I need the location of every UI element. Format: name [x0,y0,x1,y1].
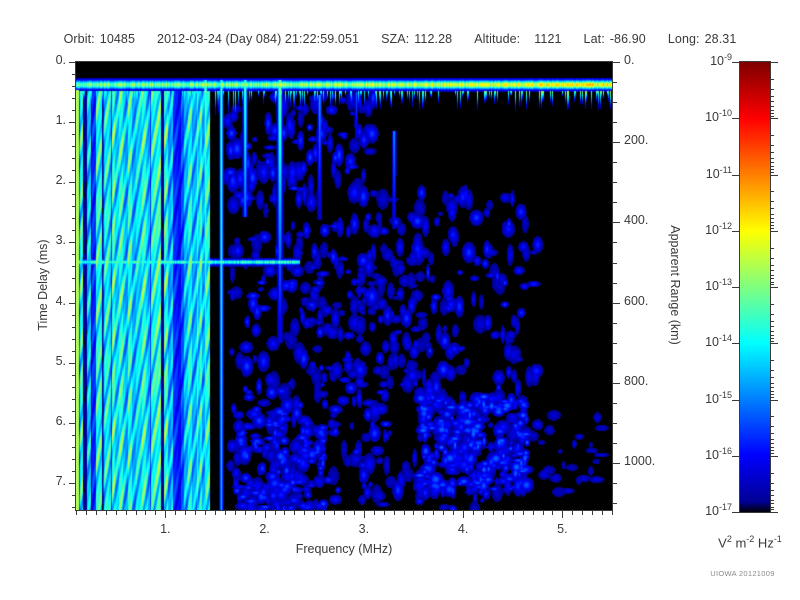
x-minor-tick [96,511,97,515]
y-left-major-tick [69,303,76,304]
colorbar-minor-tick [770,394,774,395]
colorbar-minor-tick [770,116,774,117]
y-right-major-tick [613,463,620,464]
colorbar-minor-tick [770,433,774,434]
x-minor-tick [404,511,405,515]
colorbar-minor-tick [770,106,774,107]
credit-text: UIOWA 20121009 [690,569,795,578]
sza-value: 112.28 [414,32,452,46]
colorbar-minor-tick [770,443,774,444]
y-right-minor-tick [613,403,617,404]
x-minor-tick [572,511,573,515]
x-tick-label: 5. [537,522,587,536]
colorbar-minor-tick [770,166,774,167]
colorbar-minor-tick [770,284,774,285]
x-minor-tick [294,511,295,515]
colorbar-mantissa: 10 [706,167,720,181]
colorbar-minor-tick [770,341,774,342]
x-major-tick [364,511,365,518]
colorbar-major-tick [770,400,778,401]
colorbar-minor-tick [770,152,774,153]
colorbar-border-top [739,61,771,62]
header-info-bar: Orbit: 10485 2012-03-24 (Day 084) 21:22:… [0,30,800,48]
x-axis-title: Frequency (MHz) [264,542,424,556]
plot-border-top [75,61,613,62]
x-minor-tick [453,511,454,515]
x-minor-tick [384,511,385,515]
units-hz-exp: -1 [774,534,782,544]
y-right-minor-tick [613,343,617,344]
sza-label: SZA: [381,32,409,46]
colorbar-minor-tick [770,158,774,159]
colorbar-minor-tick [770,490,774,491]
orbit-label: Orbit: [64,32,95,46]
x-major-tick [562,511,563,518]
x-minor-tick [513,511,514,515]
colorbar-minor-tick [770,326,774,327]
colorbar-minor-tick [770,500,774,501]
colorbar-mantissa: 10 [705,223,719,237]
x-tick-label: 4. [438,522,488,536]
x-minor-tick [215,511,216,515]
y-right-major-tick [613,383,620,384]
x-minor-tick [235,511,236,515]
x-minor-tick [284,511,285,515]
colorbar-minor-tick [770,135,774,136]
x-minor-tick [443,511,444,515]
colorbar-minor-tick [770,387,774,388]
colorbar-minor-tick [770,473,774,474]
colorbar-major-tick [770,118,778,119]
y-right-minor-tick [613,202,617,203]
colorbar-minor-tick [770,331,774,332]
y-left-minor-tick [72,495,76,496]
colorbar-minor-tick [770,450,774,451]
radargram-plot-area [76,62,612,510]
y-right-minor-tick [613,122,617,123]
colorbar-minor-tick [770,335,774,336]
y-left-minor-tick [72,134,76,135]
colorbar-mantissa: 10 [710,54,724,68]
colorbar-minor-tick [770,162,774,163]
colorbar-minor-tick [770,397,774,398]
x-minor-tick [493,511,494,515]
x-minor-tick [116,511,117,515]
colorbar-minor-tick [770,282,774,283]
y-right-minor-tick [613,102,617,103]
colorbar-major-tick [770,175,778,176]
x-minor-tick [334,511,335,515]
colorbar-minor-tick [770,201,774,202]
colorbar-minor-tick [770,101,774,102]
y-left-major-tick [69,122,76,123]
y-left-minor-tick [72,98,76,99]
y-left-minor-tick [72,435,76,436]
y-left-minor-tick [72,110,76,111]
x-minor-tick [344,511,345,515]
x-minor-tick [145,511,146,515]
colorbar-minor-tick [770,89,774,90]
colorbar-minor-tick [770,416,774,417]
y-left-minor-tick [72,351,76,352]
colorbar-tick-label: 10-15 [662,390,732,406]
colorbar-mantissa: 10 [705,279,719,293]
colorbar-minor-tick [770,258,774,259]
y-right-major-tick [613,62,620,63]
colorbar-major-tick-inner [732,343,740,344]
x-minor-tick [582,511,583,515]
y-left-minor-tick [72,471,76,472]
y-left-minor-tick [72,327,76,328]
x-minor-tick [76,511,77,515]
colorbar-major-tick [770,231,778,232]
units-hz: Hz [754,535,774,550]
y-right-minor-tick [613,242,617,243]
colorbar-minor-tick [770,96,774,97]
y-right-minor-tick [613,283,617,284]
x-minor-tick [275,511,276,515]
radargram-heatmap-canvas [76,62,612,510]
colorbar-exponent: -12 [719,221,732,231]
plot-border-left [75,62,76,511]
y-left-tick-label: 7. [18,474,66,488]
colorbar-mantissa: 10 [705,335,719,349]
y-left-tick-label: 5. [18,354,66,368]
y-right-minor-tick [613,423,617,424]
y-left-major-tick [69,363,76,364]
orbit-value: 10485 [100,32,135,46]
x-minor-tick [304,511,305,515]
x-minor-tick [195,511,196,515]
y-left-minor-tick [72,411,76,412]
colorbar-exponent: -16 [719,446,732,456]
y-left-minor-tick [72,507,76,508]
x-minor-tick [155,511,156,515]
x-tick-label: 1. [140,522,190,536]
long-value: 28.31 [705,32,737,46]
colorbar-minor-tick [770,304,774,305]
colorbar-minor-tick [770,270,774,271]
colorbar-minor-tick [770,439,774,440]
y-right-minor-tick [613,82,617,83]
colorbar-tick-label: 10-17 [662,502,732,518]
colorbar-minor-tick [770,214,774,215]
colorbar-minor-tick [770,172,774,173]
x-minor-tick [523,511,524,515]
colorbar-major-tick-inner [732,175,740,176]
x-major-tick [463,511,464,518]
y-left-major-tick [69,423,76,424]
lat-label: Lat: [584,32,605,46]
x-minor-tick [255,511,256,515]
colorbar-mantissa: 10 [705,448,719,462]
x-minor-tick [86,511,87,515]
y-left-tick-label: 2. [18,173,66,187]
colorbar-tick-label: 10-16 [662,446,732,462]
x-minor-tick [136,511,137,515]
y-left-minor-tick [72,170,76,171]
x-minor-tick [533,511,534,515]
colorbar-minor-tick [770,79,774,80]
y-left-minor-tick [72,387,76,388]
x-tick-label: 3. [339,522,389,536]
y-left-minor-tick [72,459,76,460]
x-minor-tick [324,511,325,515]
colorbar-minor-tick [770,314,774,315]
x-minor-tick [106,511,107,515]
colorbar-major-tick-inner [732,118,740,119]
colorbar-minor-tick [770,225,774,226]
colorbar-minor-tick [770,370,774,371]
y-left-tick-label: 1. [18,113,66,127]
colorbar-major-tick-inner [732,62,740,63]
colorbar-minor-tick [770,391,774,392]
x-minor-tick [245,511,246,515]
y-left-minor-tick [72,218,76,219]
y-left-major-tick [69,242,76,243]
x-minor-tick [225,511,226,515]
lat-value: -86.90 [610,32,646,46]
y-left-minor-tick [72,291,76,292]
y-left-tick-label: 0. [18,53,66,67]
colorbar-minor-tick [770,218,774,219]
y-left-minor-tick [72,230,76,231]
colorbar-major-tick [770,287,778,288]
y-right-minor-tick [613,483,617,484]
y-left-minor-tick [72,399,76,400]
colorbar-units-label: V2 m-2 Hz-1 [700,534,800,550]
y-right-minor-tick [613,162,617,163]
y-left-major-tick [69,182,76,183]
y-right-minor-tick [613,182,617,183]
colorbar-minor-tick [770,338,774,339]
y-left-minor-tick [72,375,76,376]
y-left-tick-label: 3. [18,233,66,247]
x-minor-tick [413,511,414,515]
colorbar-minor-tick [770,113,774,114]
colorbar-minor-tick [770,208,774,209]
colorbar-mantissa: 10 [705,504,719,518]
colorbar-minor-tick [770,483,774,484]
x-minor-tick [592,511,593,515]
colorbar-major-tick [770,343,778,344]
colorbar-major-tick-inner [732,512,740,513]
units-v: V [718,535,727,550]
x-minor-tick [423,511,424,515]
y-left-minor-tick [72,206,76,207]
colorbar-minor-tick [770,191,774,192]
colorbar-minor-tick [770,321,774,322]
x-minor-tick [175,511,176,515]
colorbar-minor-tick [770,265,774,266]
colorbar-mantissa: 10 [705,392,719,406]
y-right-minor-tick [613,263,617,264]
colorbar-major-tick-inner [732,456,740,457]
colorbar-exponent: -17 [719,502,732,512]
colorbar-major-tick [770,62,778,63]
colorbar-tick-label: 10-11 [662,165,732,181]
colorbar-tick-label: 10-13 [662,277,732,293]
units-m: m [732,535,746,550]
colorbar-minor-tick [770,426,774,427]
x-minor-tick [483,511,484,515]
colorbar-minor-tick [770,507,774,508]
x-minor-tick [314,511,315,515]
y-right-tick-label: 600. [624,294,684,308]
y-right-minor-tick [613,503,617,504]
colorbar-minor-tick [770,275,774,276]
y-left-minor-tick [72,278,76,279]
colorbar-minor-tick [770,110,774,111]
x-minor-tick [602,511,603,515]
x-minor-tick [433,511,434,515]
colorbar-exponent: -13 [719,277,732,287]
y-left-minor-tick [72,315,76,316]
colorbar-border-bottom [739,512,771,513]
x-minor-tick [473,511,474,515]
y-right-minor-tick [613,363,617,364]
y-left-tick-label: 6. [18,414,66,428]
colorbar-major-tick [770,456,778,457]
colorbar-exponent: -9 [724,52,732,62]
x-minor-tick [126,511,127,515]
colorbar [740,62,770,512]
colorbar-minor-tick [770,145,774,146]
colorbar-major-tick-inner [732,287,740,288]
y-left-minor-tick [72,146,76,147]
colorbar-minor-tick [770,383,774,384]
colorbar-exponent: -14 [719,333,732,343]
colorbar-minor-tick [770,509,774,510]
colorbar-minor-tick [770,377,774,378]
colorbar-major-tick-inner [732,231,740,232]
colorbar-minor-tick [770,169,774,170]
datetime-value: 2012-03-24 (Day 084) 21:22:59.051 [157,32,359,46]
colorbar-major-tick [770,512,778,513]
y-right-tick-label: 200. [624,133,684,147]
y-left-minor-tick [72,194,76,195]
x-minor-tick [503,511,504,515]
colorbar-exponent: -15 [719,390,732,400]
colorbar-minor-tick [770,503,774,504]
colorbar-minor-tick [770,248,774,249]
colorbar-exponent: -10 [719,108,732,118]
y-left-minor-tick [72,158,76,159]
altitude-label: Altitude: [474,32,520,46]
y-left-major-tick [69,483,76,484]
x-minor-tick [543,511,544,515]
colorbar-tick-label: 10-14 [662,333,732,349]
colorbar-gradient-canvas [740,62,770,512]
colorbar-exponent: -11 [720,165,732,175]
colorbar-minor-tick [770,228,774,229]
colorbar-tick-label: 10-10 [662,108,732,124]
colorbar-minor-tick [770,453,774,454]
colorbar-tick-label: 10-9 [662,52,732,68]
x-minor-tick [185,511,186,515]
y-left-minor-tick [72,254,76,255]
y-right-major-tick [613,222,620,223]
colorbar-minor-tick [770,495,774,496]
y-right-major-tick [613,142,620,143]
colorbar-minor-tick [770,222,774,223]
y-right-major-tick [613,303,620,304]
y-left-minor-tick [72,86,76,87]
y-left-minor-tick [72,74,76,75]
colorbar-mantissa: 10 [705,110,719,124]
y-right-minor-tick [613,323,617,324]
colorbar-minor-tick [770,447,774,448]
colorbar-minor-tick [770,278,774,279]
x-minor-tick [552,511,553,515]
altitude-value: 1121 [534,32,561,46]
y-left-tick-label: 4. [18,294,66,308]
x-major-tick [265,511,266,518]
y-right-minor-tick [613,443,617,444]
y-left-minor-tick [72,447,76,448]
x-tick-label: 2. [240,522,290,536]
y-left-major-tick [69,62,76,63]
y-left-minor-tick [72,339,76,340]
colorbar-tick-label: 10-12 [662,221,732,237]
x-minor-tick [354,511,355,515]
y-right-tick-label: 800. [624,374,684,388]
x-minor-tick [205,511,206,515]
x-major-tick [165,511,166,518]
long-label: Long: [668,32,700,46]
x-minor-tick [612,511,613,515]
colorbar-minor-tick [770,360,774,361]
x-minor-tick [394,511,395,515]
x-minor-tick [374,511,375,515]
colorbar-major-tick-inner [732,400,740,401]
y-left-minor-tick [72,266,76,267]
